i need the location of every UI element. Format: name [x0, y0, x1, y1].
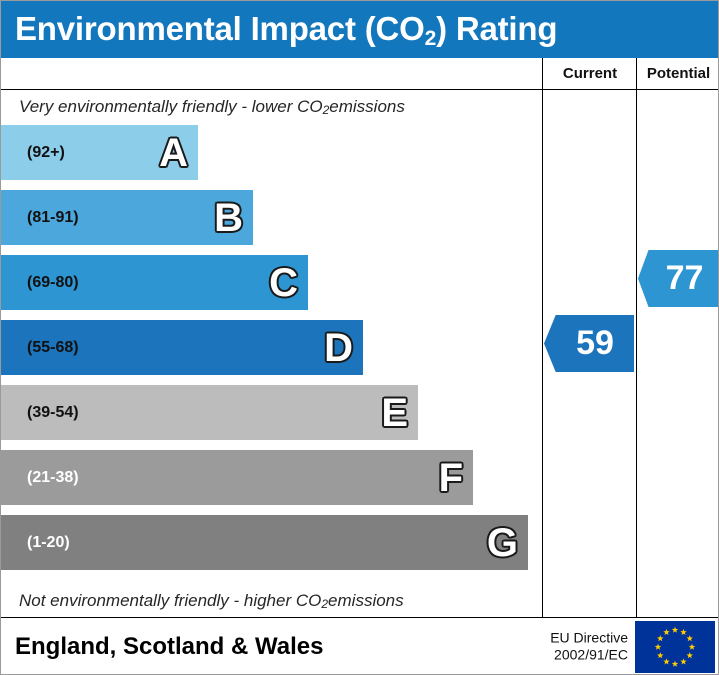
column-header-current: Current [542, 58, 637, 89]
chart-body: Very environmentally friendly - lower CO… [1, 90, 719, 618]
caption-top: Very environmentally friendly - lower CO… [1, 90, 542, 124]
eu-flag-icon [635, 621, 715, 673]
column-header-row: Current Potential [1, 58, 719, 90]
rating-band-c-range: (69-80) [27, 274, 79, 292]
rating-band-e-letter: E [381, 393, 408, 433]
rating-band-d-range: (55-68) [27, 339, 79, 357]
rating-bands: (92+) A (81-91) B (69-80) C (55-68) D (3… [1, 125, 542, 585]
rating-band-d-letter: D [324, 328, 353, 368]
potential-rating-arrow: 77 [638, 250, 719, 307]
page-title-subscript: 2 [425, 27, 436, 50]
rating-band-e: (39-54) E [1, 385, 418, 440]
rating-band-f-letter: F [439, 458, 463, 498]
page-title: Environmental Impact (CO2) Rating [15, 10, 557, 48]
rating-band-d: (55-68) D [1, 320, 363, 375]
rating-band-c-letter: C [269, 263, 298, 303]
rating-band-f: (21-38) F [1, 450, 473, 505]
caption-bottom: Not environmentally friendly - higher CO… [1, 584, 542, 618]
rating-band-g-letter: G [487, 523, 518, 563]
caption-bottom-pre: Not environmentally friendly - higher CO [19, 591, 321, 611]
footer-eu-directive: EU Directive 2002/91/EC [550, 629, 628, 664]
footer-region-label: England, Scotland & Wales [15, 633, 323, 661]
current-rating-arrow: 59 [544, 315, 634, 372]
eu-flag-stars [635, 621, 715, 673]
rating-band-a-range: (92+) [27, 144, 65, 162]
caption-top-subscript: 2 [323, 103, 330, 117]
caption-top-post: emissions [329, 97, 405, 117]
page-title-main: Environmental Impact (CO [15, 10, 425, 47]
rating-band-f-range: (21-38) [27, 469, 79, 487]
rating-band-e-range: (39-54) [27, 404, 79, 422]
rating-band-b-letter: B [214, 198, 243, 238]
chart-footer: England, Scotland & Wales EU Directive 2… [1, 618, 719, 675]
column-header-potential: Potential [636, 58, 719, 89]
caption-top-pre: Very environmentally friendly - lower CO [19, 97, 323, 117]
rating-band-b: (81-91) B [1, 190, 253, 245]
caption-bottom-post: emissions [328, 591, 404, 611]
epc-environmental-impact-chart: Environmental Impact (CO2) Rating Curren… [0, 0, 719, 675]
rating-band-g: (1-20) G [1, 515, 528, 570]
caption-bottom-subscript: 2 [321, 597, 328, 611]
footer-eu-directive-line2: 2002/91/EC [550, 647, 628, 665]
rating-band-a: (92+) A [1, 125, 198, 180]
rating-band-b-range: (81-91) [27, 209, 79, 227]
page-title-tail: ) Rating [436, 10, 557, 47]
rating-band-c: (69-80) C [1, 255, 308, 310]
divider-potential-column [636, 90, 637, 618]
rating-band-a-letter: A [159, 133, 188, 173]
rating-band-g-range: (1-20) [27, 534, 70, 552]
footer-eu-directive-line1: EU Directive [550, 629, 628, 647]
divider-current-column [542, 90, 543, 618]
chart-header: Environmental Impact (CO2) Rating [1, 1, 719, 58]
